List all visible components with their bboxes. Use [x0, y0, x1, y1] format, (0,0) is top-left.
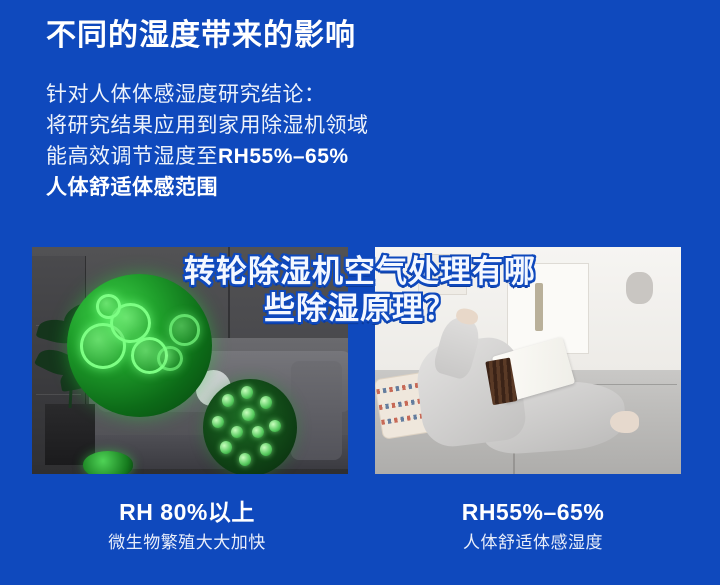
intro-line-1: 针对人体体感湿度研究结论： [46, 79, 369, 110]
photo-row [0, 247, 720, 474]
virus-sphere-icon [203, 379, 298, 474]
caption-row: RH 80%以上 微生物繁殖大大加快 RH55%–65% 人体舒适体感湿度 [0, 497, 720, 577]
dark-room-scene [32, 247, 348, 474]
person-foot [610, 411, 639, 434]
bacteria-small-icon [83, 451, 134, 474]
caption-right-title: RH55%–65% [368, 497, 698, 527]
virus-spike [269, 420, 281, 433]
caption-left-subtitle: 微生物繁殖大大加快 [22, 531, 352, 555]
virus-spike [220, 441, 232, 454]
intro-line-3-emphasis: RH55%–65% [218, 145, 349, 168]
intro-paragraph: 针对人体体感湿度研究结论： 将研究结果应用到家用除湿机领域 能高效调节湿度至RH… [46, 79, 369, 203]
virus-spike [212, 416, 224, 429]
caption-right-subtitle: 人体舒适体感湿度 [368, 531, 698, 555]
wall-ornament [626, 272, 654, 304]
bacteria-cell [96, 294, 121, 318]
poster-root: 不同的湿度带来的影响 针对人体体感湿度研究结论： 将研究结果应用到家用除湿机领域… [0, 0, 720, 585]
intro-line-2: 将研究结果应用到家用除湿机领域 [46, 110, 369, 141]
bacteria-cluster-icon [67, 274, 212, 417]
bacteria-cell [169, 314, 201, 345]
virus-spike [222, 394, 234, 407]
sofa-arm [291, 361, 342, 461]
virus-spike [260, 396, 272, 409]
virus-spike [242, 408, 254, 421]
page-title: 不同的湿度带来的影响 [46, 17, 356, 55]
intro-line-4: 人体舒适体感范围 [46, 172, 369, 203]
caption-comfort-humidity: RH55%–65% 人体舒适体感湿度 [368, 497, 698, 555]
intro-line-3: 能高效调节湿度至RH55%–65% [46, 141, 369, 172]
virus-spike [241, 386, 253, 399]
wall-frame-small [418, 254, 467, 295]
caption-high-humidity: RH 80%以上 微生物繁殖大大加快 [22, 497, 352, 555]
virus-spike [239, 453, 251, 466]
intro-line-3-prefix: 能高效调节湿度至 [46, 145, 218, 168]
photo-comfort-humidity [375, 247, 681, 474]
virus-spike [252, 426, 264, 439]
bright-room-scene [375, 247, 681, 474]
photo-high-humidity [32, 247, 348, 474]
virus-spike [231, 426, 243, 439]
caption-left-title: RH 80%以上 [22, 497, 352, 527]
bacteria-cell [157, 346, 183, 372]
person-reading [399, 315, 644, 456]
virus-spike [260, 443, 272, 456]
